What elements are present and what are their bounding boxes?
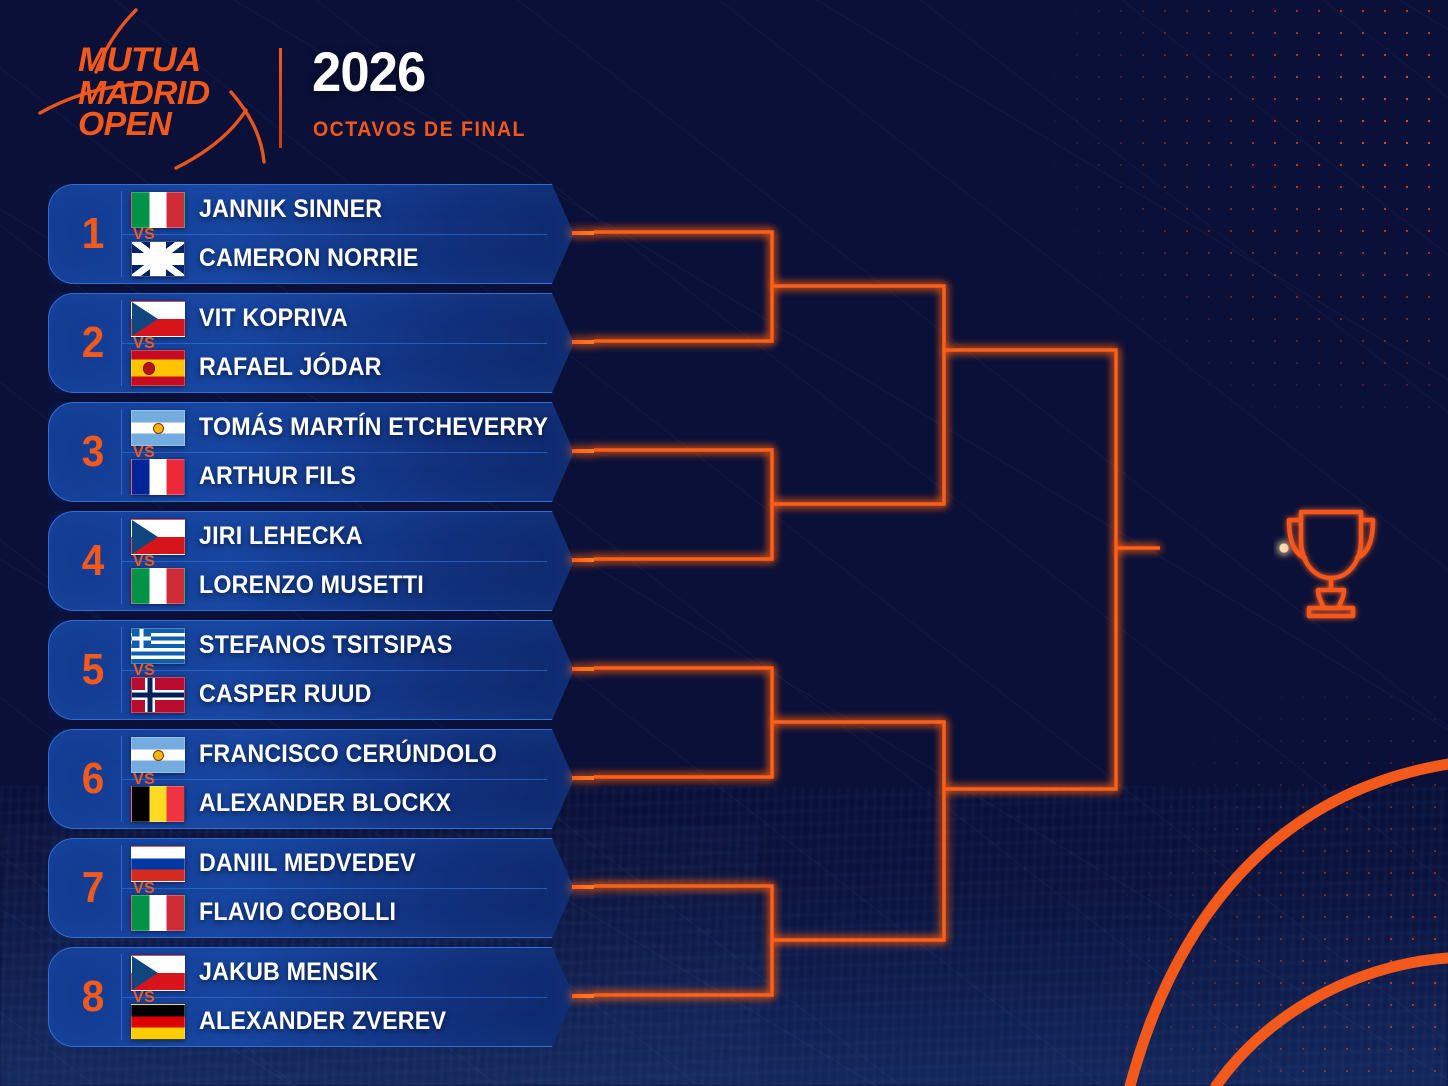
player-name: JAKUB MENSIK [199, 958, 378, 987]
flag-italy [131, 192, 185, 228]
player-name: STEFANOS TSITSIPAS [199, 631, 453, 660]
match-number: 3 [69, 403, 117, 501]
player-name: CAMERON NORRIE [199, 244, 419, 273]
player-row-top: DANIIL MEDVEDEV [131, 839, 432, 888]
logo-line-3: OPEN [78, 108, 272, 140]
flag-spain [131, 350, 185, 386]
player-row-bottom: ARTHUR FILS [131, 452, 368, 501]
vs-label: VS [133, 335, 155, 353]
flag-germany [131, 1004, 185, 1040]
vs-label: VS [133, 662, 155, 680]
flag-united-kingdom [131, 241, 185, 277]
flag-italy [131, 568, 185, 604]
player-name: ARTHUR FILS [199, 462, 356, 491]
flag-norway [131, 677, 185, 713]
bracket-poster: MUTUA MADRID OPEN 2026 OCTAVOS DE FINAL [0, 0, 1448, 1086]
match-card[interactable]: 3 TOMÁS MARTÍN ETCHEVERRY ARTHUR FILS VS [48, 402, 574, 502]
player-row-top: TOMÁS MARTÍN ETCHEVERRY [131, 403, 574, 452]
match-connector [572, 340, 594, 344]
match-number: 8 [69, 948, 117, 1046]
match-card[interactable]: 7 DANIIL MEDVEDEV FLAVIO COBOLLI VS [48, 838, 574, 938]
vs-label: VS [133, 444, 155, 462]
player-name: FRANCISCO CERÚNDOLO [199, 740, 497, 769]
player-name: VIT KOPRIVA [199, 304, 348, 333]
player-name: JIRI LEHECKA [199, 522, 363, 551]
tournament-logo: MUTUA MADRID OPEN [78, 44, 268, 140]
orange-dot-pattern-bottom-right [1028, 686, 1448, 1086]
vs-label: VS [133, 989, 155, 1007]
player-name: RAFAEL JÓDAR [199, 353, 382, 382]
match-number: 7 [69, 839, 117, 937]
flag-france [131, 459, 185, 495]
player-row-top: FRANCISCO CERÚNDOLO [131, 730, 519, 779]
match-connector [572, 449, 594, 453]
vs-label: VS [133, 553, 155, 571]
header-divider [279, 48, 282, 148]
match-connector [572, 667, 594, 671]
player-row-top: JANNIK SINNER [131, 185, 396, 234]
logo-line-1: MUTUA [78, 44, 272, 77]
match-number: 5 [69, 621, 117, 719]
flag-russia [131, 846, 185, 882]
match-number: 4 [69, 512, 117, 610]
player-row-top: JAKUB MENSIK [131, 948, 392, 997]
corner-swoosh [1130, 764, 1448, 1086]
player-row-bottom: CASPER RUUD [131, 670, 385, 719]
match-card[interactable]: 5 STEFANOS TSITSIPAS CASPER RUUD VS [48, 620, 574, 720]
match-card[interactable]: 6 FRANCISCO CERÚNDOLO ALEXANDER BLOCKX V… [48, 729, 574, 829]
flag-czech-republic [131, 301, 185, 337]
match-number: 1 [69, 185, 117, 283]
flag-argentina [131, 410, 185, 446]
player-row-bottom: FLAVIO COBOLLI [131, 888, 411, 937]
player-row-top: VIT KOPRIVA [131, 294, 359, 343]
flag-czech-republic [131, 955, 185, 991]
match-connector [572, 558, 594, 562]
match-card[interactable]: 4 JIRI LEHECKA LORENZO MUSETTI VS [48, 511, 574, 611]
player-row-bottom: ALEXANDER ZVEREV [131, 997, 465, 1046]
player-name: LORENZO MUSETTI [199, 571, 424, 600]
vs-label: VS [133, 771, 155, 789]
bracket-lines [594, 232, 1160, 995]
flag-greece [131, 628, 185, 664]
player-row-top: JIRI LEHECKA [131, 512, 375, 561]
player-name: TOMÁS MARTÍN ETCHEVERRY [199, 413, 548, 442]
player-row-bottom: LORENZO MUSETTI [131, 561, 441, 610]
player-row-top: STEFANOS TSITSIPAS [131, 621, 472, 670]
player-name: JANNIK SINNER [199, 195, 382, 224]
match-connector [572, 776, 594, 780]
match-connector [572, 885, 594, 889]
match-connector [572, 994, 594, 998]
logo-line-2: MADRID [78, 77, 272, 109]
champion-line [1116, 543, 1289, 552]
match-card[interactable]: 2 VIT KOPRIVA RAFAEL JÓDAR VS [48, 293, 574, 393]
match-card[interactable]: 8 JAKUB MENSIK ALEXANDER ZVEREV VS [48, 947, 574, 1047]
player-name: DANIIL MEDVEDEV [199, 849, 416, 878]
tournament-year: 2026 [312, 44, 425, 100]
vs-label: VS [133, 880, 155, 898]
player-name: ALEXANDER ZVEREV [199, 1007, 446, 1036]
player-name: FLAVIO COBOLLI [199, 898, 396, 927]
vs-label: VS [133, 226, 155, 244]
match-connector [572, 231, 594, 235]
flag-argentina [131, 737, 185, 773]
flag-belgium [131, 786, 185, 822]
player-name: ALEXANDER BLOCKX [199, 789, 451, 818]
match-number: 2 [69, 294, 117, 392]
orange-dot-pattern-top-right [978, 0, 1448, 420]
player-row-bottom: RAFAEL JÓDAR [131, 343, 395, 392]
flag-italy [131, 895, 185, 931]
flag-czech-republic [131, 519, 185, 555]
match-number: 6 [69, 730, 117, 828]
player-row-bottom: CAMERON NORRIE [131, 234, 435, 283]
trophy-icon [1289, 512, 1373, 616]
player-row-bottom: ALEXANDER BLOCKX [131, 779, 470, 828]
match-card[interactable]: 1 JANNIK SINNER CAMERON NORRIE VS [48, 184, 574, 284]
player-name: CASPER RUUD [199, 680, 372, 709]
round-title: OCTAVOS DE FINAL [313, 118, 526, 142]
